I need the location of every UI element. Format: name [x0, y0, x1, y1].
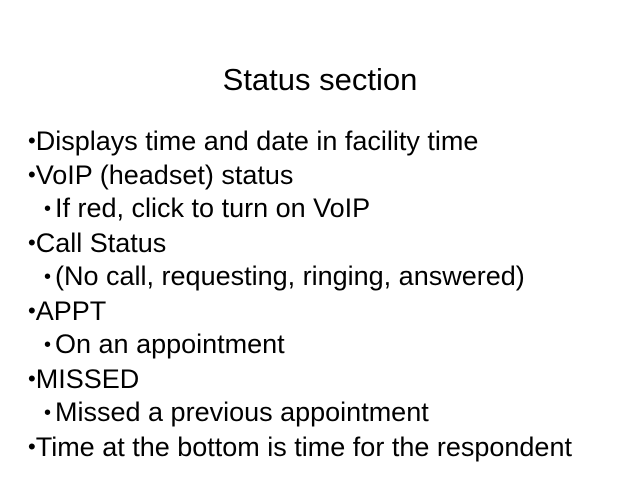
slide: Status section •Displays time and date i… — [0, 0, 640, 480]
bullet-list: •Displays time and date in facility time… — [0, 124, 640, 464]
list-item-label: MISSED — [36, 364, 140, 394]
bullet-icon: • — [28, 226, 36, 259]
bullet-icon: • — [44, 329, 51, 362]
list-item-label: Missed a previous appointment — [55, 397, 429, 427]
list-item-label: On an appointment — [55, 329, 285, 359]
list-item-label: VoIP (headset) status — [36, 160, 294, 190]
page-title: Status section — [0, 61, 640, 99]
bullet-icon: • — [28, 124, 36, 157]
list-item: •APPT — [0, 294, 640, 328]
bullet-icon: • — [44, 261, 51, 294]
list-item: •If red, click to turn on VoIP — [0, 192, 640, 226]
list-item-label: Time at the bottom is time for the respo… — [36, 432, 572, 462]
list-item: •Displays time and date in facility time — [0, 124, 640, 158]
list-item: •On an appointment — [0, 328, 640, 362]
bullet-icon: • — [44, 397, 51, 430]
bullet-icon: • — [28, 430, 36, 463]
bullet-icon: • — [28, 294, 36, 327]
list-item: •(No call, requesting, ringing, answered… — [0, 260, 640, 294]
bullet-icon: • — [28, 362, 36, 395]
bullet-icon: • — [44, 193, 51, 226]
list-item: •Call Status — [0, 226, 640, 260]
list-item: •VoIP (headset) status — [0, 158, 640, 192]
list-item: •MISSED — [0, 362, 640, 396]
list-item: •Time at the bottom is time for the resp… — [0, 430, 640, 464]
bullet-icon: • — [28, 158, 36, 191]
list-item-label: (No call, requesting, ringing, answered) — [55, 261, 525, 291]
list-item-label: Call Status — [36, 228, 167, 258]
list-item: •Missed a previous appointment — [0, 396, 640, 430]
list-item-label: APPT — [36, 296, 107, 326]
list-item-label: If red, click to turn on VoIP — [55, 193, 370, 223]
list-item-label: Displays time and date in facility time — [36, 126, 479, 156]
